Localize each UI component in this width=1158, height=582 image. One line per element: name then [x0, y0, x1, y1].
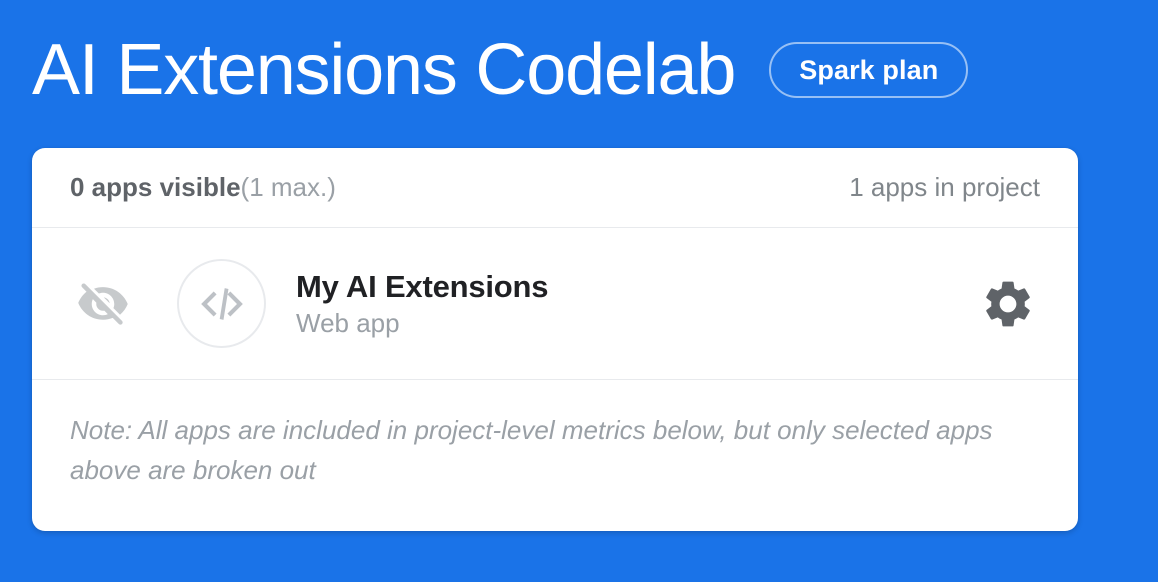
visibility-off-icon[interactable] — [72, 273, 134, 335]
visible-apps-count: 0 apps visible — [70, 172, 241, 202]
app-name: My AI Extensions — [296, 270, 978, 304]
app-meta: My AI Extensions Web app — [296, 270, 978, 338]
apps-summary-row: 0 apps visible(1 max.) 1 apps in project — [32, 148, 1078, 227]
page-title: AI Extensions Codelab — [32, 34, 735, 106]
app-list-item: My AI Extensions Web app — [32, 228, 1078, 379]
plan-badge-spark[interactable]: Spark plan — [769, 42, 968, 98]
app-avatar — [177, 259, 266, 348]
note-area: Note: All apps are included in project-l… — [32, 380, 1078, 531]
code-icon — [197, 279, 247, 329]
visible-apps-summary: 0 apps visible(1 max.) — [70, 172, 336, 203]
app-type: Web app — [296, 309, 978, 338]
gear-icon[interactable] — [978, 274, 1038, 334]
metrics-note: Note: All apps are included in project-l… — [70, 410, 1040, 491]
visible-apps-max: (1 max.) — [241, 172, 336, 202]
firebase-usage-page: AI Extensions Codelab Spark plan 0 apps … — [0, 0, 1158, 582]
project-apps-count: 1 apps in project — [849, 172, 1040, 203]
apps-visibility-card: 0 apps visible(1 max.) 1 apps in project — [32, 148, 1078, 531]
page-header: AI Extensions Codelab Spark plan — [32, 14, 1129, 126]
